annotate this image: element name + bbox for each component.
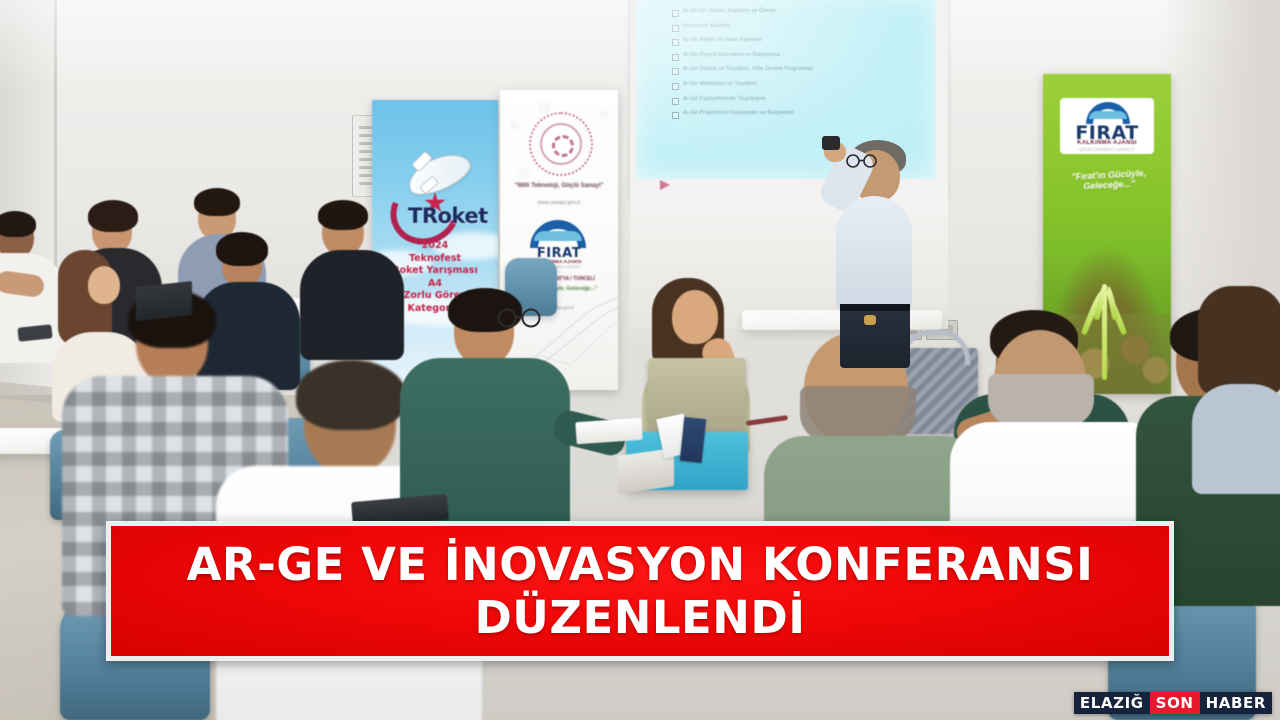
- headline-line-2: DÜZENLENDİ: [474, 591, 805, 644]
- watermark-part-1: ELAZIĞ: [1074, 692, 1150, 714]
- presenter-belt: [840, 304, 910, 311]
- slide-footer-logo-icon: [660, 180, 714, 191]
- attendee-hair: [0, 211, 36, 237]
- attendee-body: [0, 253, 66, 363]
- slide-bullet-text: Ar-Ge'nin Tanımı, Kapsamı ve Önemi: [683, 8, 775, 14]
- fka-tagline: "Fırat'ın Gücüyle, Geleceğe...": [1051, 167, 1168, 193]
- checkbox-bullet-icon: [672, 10, 679, 17]
- headline-line-1: AR-GE VE İNOVASYON KONFERANSI: [187, 538, 1094, 591]
- checkbox-bullet-icon: [672, 54, 679, 61]
- ministry-seal-icon: [529, 112, 593, 176]
- checkbox-bullet-icon: [672, 98, 679, 105]
- attendee-hair: [988, 374, 1094, 426]
- slide-bullet-text: Ar-Ge Merkezleri ve Teşvikleri: [683, 81, 758, 87]
- watermark-logo: ELAZIĞ SON HABER: [1074, 692, 1272, 714]
- presenter-torso: [836, 196, 912, 312]
- attendee-head: [88, 266, 120, 304]
- headline-inner: AR-GE VE İNOVASYON KONFERANSI DÜZENLENDİ: [111, 526, 1169, 656]
- list-item: Ar-Ge'nin Tanımı, Kapsamı ve Önemi: [672, 8, 927, 17]
- list-item: İnovasyon Kavramı: [672, 23, 927, 32]
- attendee-hair: [88, 200, 138, 232]
- list-item: Ar-Ge Projelerinin Finansmanı ve Bütçele…: [672, 110, 927, 119]
- slide-bullet-text: İnovasyon Kavramı: [683, 23, 731, 29]
- news-photo-frame: Ar-Ge'nin Tanımı, Kapsamı ve Önemi İnova…: [0, 0, 1280, 720]
- troket-year: 2024: [372, 240, 498, 253]
- slide-bullet-text: Ar-Ge Destek ve Teşvikleri, Hibe Destek …: [683, 66, 814, 72]
- ministry-slogan: "Milli Teknoloji, Güçlü Sanayi": [500, 182, 618, 189]
- fka-sub-en-label: DEVELOPMENT AGENCY: [1060, 147, 1154, 152]
- slide-bullet-list: Ar-Ge'nin Tanımı, Kapsamı ve Önemi İnova…: [672, 8, 927, 125]
- notepad: [575, 418, 642, 445]
- slide-bullet-text: Ar-Ge Faaliyetlerinde Ticarileşme: [683, 96, 766, 102]
- list-item: Ar-Ge Faaliyetlerinde Ticarileşme: [672, 96, 927, 105]
- checkbox-bullet-icon: [672, 68, 679, 75]
- watermark-part-3: HABER: [1200, 692, 1272, 714]
- presenter-clicker: [822, 136, 840, 150]
- slide-bullet-text: Ar-Ge Projesi Hazırlama ve Raporlama: [683, 52, 780, 58]
- attendee-hair: [1198, 286, 1280, 396]
- attendee-head: [672, 290, 718, 344]
- presenter-eyeglasses-icon: [844, 152, 880, 170]
- attendee-hair: [216, 232, 268, 266]
- slide-bullet-text: Ar-Ge Neden ve Nasıl Yapılmalı: [683, 37, 762, 43]
- attendee-hair: [800, 386, 916, 442]
- checkbox-bullet-icon: [672, 112, 679, 119]
- checkbox-bullet-icon: [672, 83, 679, 90]
- attendee-body: [1192, 384, 1280, 494]
- fka-arc-icon: [530, 220, 586, 248]
- attendee-hair: [296, 360, 406, 430]
- attendee-body: [300, 250, 404, 360]
- laptop: [136, 281, 192, 321]
- headline-banner: AR-GE VE İNOVASYON KONFERANSI DÜZENLENDİ: [106, 521, 1174, 661]
- eyeglasses-icon: [496, 304, 544, 332]
- watermark-part-2: SON: [1150, 692, 1200, 714]
- troket-brand-label: TRoket: [408, 204, 488, 228]
- list-item: Ar-Ge Destek ve Teşvikleri, Hibe Destek …: [672, 66, 927, 75]
- presenter-watch-icon: [864, 315, 876, 325]
- fka-logo-card: FIRAT KALKINMA AJANSI DEVELOPMENT AGENCY: [1060, 98, 1154, 154]
- list-item: Ar-Ge Projesi Hazırlama ve Raporlama: [672, 52, 927, 61]
- fka-sub-label: KALKINMA AJANSI: [1060, 140, 1154, 146]
- checkbox-bullet-icon: [672, 39, 679, 46]
- list-item: Ar-Ge Neden ve Nasıl Yapılmalı: [672, 37, 927, 46]
- slide-bullet-text: Ar-Ge Projelerinin Finansmanı ve Bütçele…: [683, 110, 794, 116]
- banner-ministry: "Milli Teknoloji, Güçlü Sanayi" www.sana…: [500, 90, 618, 390]
- checkbox-bullet-icon: [672, 25, 679, 32]
- list-item: Ar-Ge Merkezleri ve Teşvikleri: [672, 81, 927, 90]
- attendee-hair: [194, 188, 240, 216]
- brochure: [680, 417, 706, 463]
- ministry-url: www.sanayi.gov.tr: [500, 200, 618, 206]
- attendee-hair: [318, 200, 368, 230]
- fka-arc-icon: [1086, 102, 1130, 124]
